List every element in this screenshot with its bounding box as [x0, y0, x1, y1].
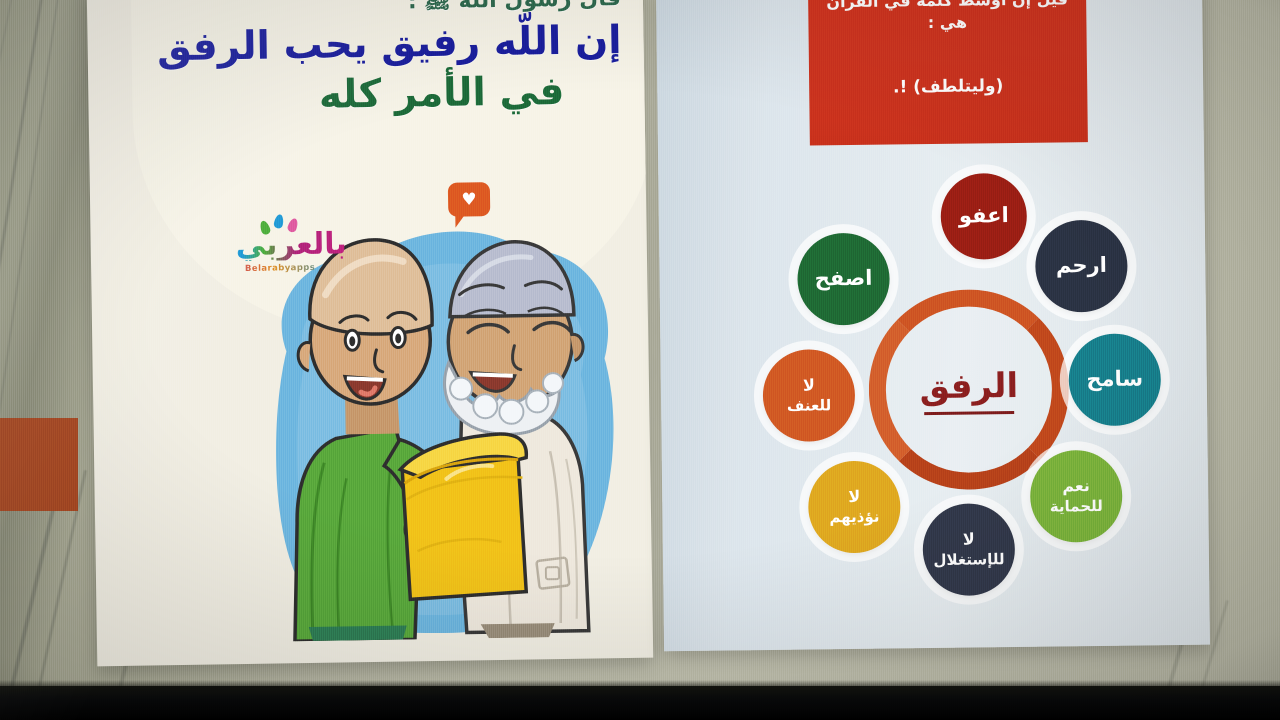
- wheel-center-label: الرفق: [919, 366, 1018, 413]
- banner-line-1: قيل إن أوسط كلمة في القرآن هي :: [820, 0, 1075, 35]
- heart-speech-bubble: ♥: [448, 182, 491, 217]
- node-nuthihim-label-1: لا: [848, 488, 860, 506]
- hadith-line-1: إن اللّه رفيق يحب الرفق: [101, 16, 622, 73]
- hadith-text-block: قال رسول الله ﷺ : إن اللّه رفيق يحب الرف…: [101, 0, 623, 123]
- node-istighlal-label-1: لا: [963, 531, 975, 549]
- logo-subtitle: Belarabyapps: [213, 262, 347, 274]
- node-samih[interactable]: سامح: [1068, 333, 1161, 426]
- screen-bottom-frame: [0, 686, 1280, 720]
- node-nuthihim[interactable]: لانؤذيهم: [808, 460, 901, 553]
- node-himaya-label-1: نعم: [1062, 478, 1090, 496]
- node-isfah[interactable]: اصفح: [797, 233, 890, 326]
- illustration-boy-helping-elder: [246, 218, 639, 642]
- right-slide-card[interactable]: قيل إن أوسط كلمة في القرآن هي : (وليتلطف…: [656, 0, 1210, 651]
- node-irham-label-1: ارحم: [1056, 254, 1107, 278]
- quran-fact-banner: قيل إن أوسط كلمة في القرآن هي : (وليتلطف…: [808, 0, 1088, 145]
- wall-orange-block: [0, 418, 78, 511]
- logo-droplets-icon: [258, 214, 312, 237]
- left-slide-card[interactable]: قال رسول الله ﷺ : إن اللّه رفيق يحب الرف…: [87, 0, 654, 666]
- brand-logo: بالعربي Belarabyapps: [213, 229, 348, 274]
- node-nuthihim-label-2: نؤذيهم: [829, 509, 879, 526]
- node-himaya[interactable]: نعمللحماية: [1030, 450, 1123, 543]
- hadith-line-2: في الأمر كله: [102, 66, 623, 123]
- node-afu[interactable]: اعفو: [940, 173, 1027, 260]
- node-unf[interactable]: لاللعنف: [762, 349, 855, 442]
- heart-icon: ♥: [461, 191, 477, 208]
- banner-line-2: (وليتلطف) !.: [821, 75, 1075, 98]
- node-istighlal[interactable]: لاللإستغلال: [922, 503, 1015, 596]
- node-irham[interactable]: ارحم: [1035, 220, 1128, 313]
- node-istighlal-label-2: للإستغلال: [933, 551, 1004, 568]
- projector-screen-photo: قال رسول الله ﷺ : إن اللّه رفيق يحب الرف…: [0, 0, 1280, 720]
- node-afu-label-1: اعفو: [959, 205, 1009, 229]
- node-isfah-label-1: اصفح: [815, 267, 873, 291]
- node-unf-label-1: لا: [803, 377, 815, 395]
- rifq-wheel-diagram: الرفق اعفوارحمسامحنعمللحمايةلاللإستغلالل…: [754, 157, 1160, 624]
- wheel-center-ring: الرفق: [868, 288, 1070, 490]
- node-samih-label-1: سامح: [1086, 368, 1143, 392]
- node-unf-label-2: للعنف: [787, 397, 831, 414]
- node-himaya-label-2: للحماية: [1050, 498, 1103, 515]
